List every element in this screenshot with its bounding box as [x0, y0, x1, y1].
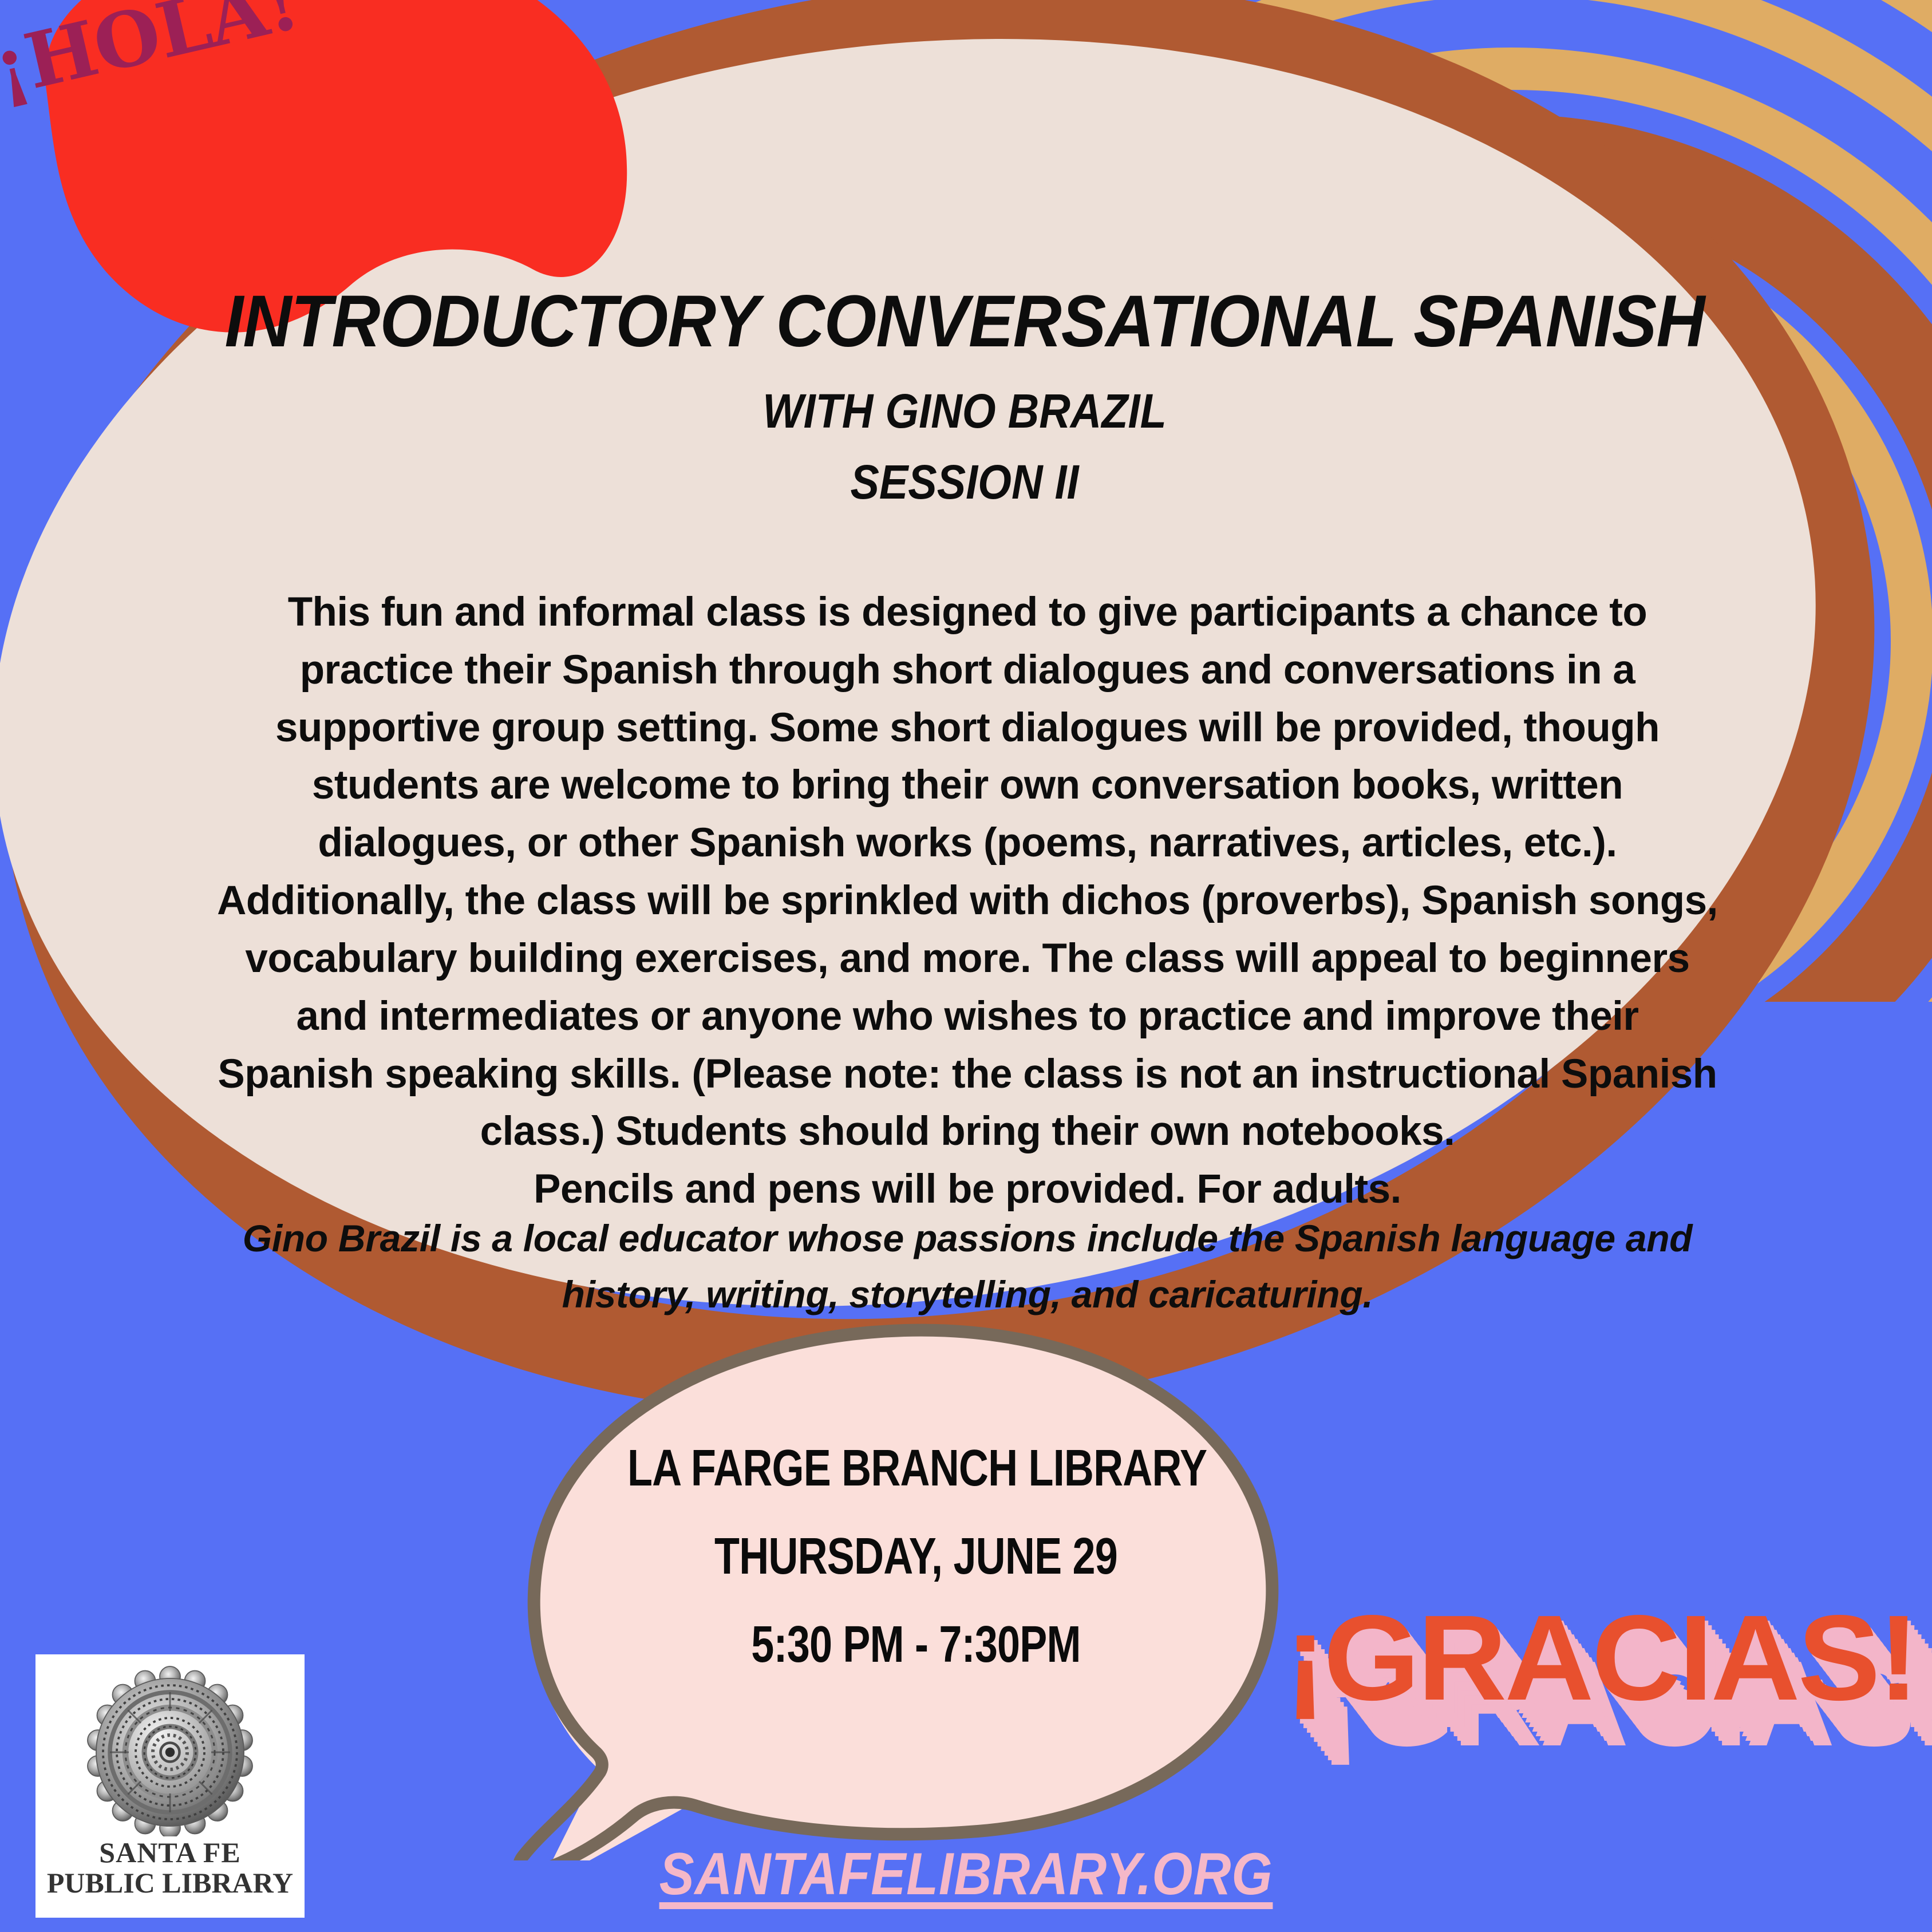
- event-details-bubble: LA FARGE BRANCH LIBRARY THURSDAY, JUNE 2…: [504, 1311, 1328, 1860]
- logo-line-1: SANTA FE: [47, 1838, 293, 1868]
- description-line: Pencils and pens will be provided. For a…: [200, 1161, 1735, 1219]
- event-details-text: LA FARGE BRANCH LIBRARY THURSDAY, JUNE 2…: [555, 1443, 1277, 1670]
- description-line: Spanish speaking skills. (Please note: t…: [200, 1046, 1735, 1104]
- bio-line: Gino Brazil is a local educator whose pa…: [200, 1211, 1735, 1267]
- session-label: SESSION II: [241, 457, 1689, 507]
- event-date: THURSDAY, JUNE 29: [627, 1531, 1204, 1582]
- library-logo: SANTA FE PUBLIC LIBRARY: [35, 1654, 305, 1918]
- presenter-name: WITH GINO BRAZIL: [241, 386, 1689, 436]
- description-line: class.) Students should bring their own …: [200, 1103, 1735, 1161]
- library-logo-text: SANTA FE PUBLIC LIBRARY: [47, 1838, 293, 1898]
- description-line: students are welcome to bring their own …: [200, 757, 1735, 815]
- event-time: 5:30 PM - 7:30PM: [627, 1619, 1204, 1670]
- page-title: INTRODUCTORY CONVERSATIONAL SPANISH: [224, 283, 1704, 359]
- description-line: and intermediates or anyone who wishes t…: [200, 988, 1735, 1046]
- tin-rosette-icon: [84, 1665, 256, 1836]
- description-line: Additionally, the class will be sprinkle…: [200, 872, 1735, 930]
- description-line: dialogues, or other Spanish works (poems…: [200, 815, 1735, 872]
- description-line: practice their Spanish through short dia…: [200, 642, 1735, 700]
- description-block: This fun and informal class is designed …: [200, 584, 1735, 1219]
- event-poster: ¡HOLA! INTRODUCTORY CONVERSATIONAL SPANI…: [0, 0, 1932, 1932]
- event-location: LA FARGE BRANCH LIBRARY: [627, 1443, 1204, 1494]
- presenter-bio: Gino Brazil is a local educator whose pa…: [200, 1211, 1735, 1322]
- description-line: vocabulary building exercises, and more.…: [200, 930, 1735, 988]
- gracias-label: ¡GRACIAS!: [1285, 1597, 1917, 1718]
- description-line: supportive group setting. Some short dia…: [200, 700, 1735, 757]
- title-block: INTRODUCTORY CONVERSATIONAL SPANISH WITH…: [160, 283, 1769, 507]
- logo-line-2: PUBLIC LIBRARY: [47, 1868, 293, 1898]
- description-line: This fun and informal class is designed …: [200, 584, 1735, 642]
- website-url[interactable]: SANTAFELIBRARY.ORG: [116, 1840, 1816, 1909]
